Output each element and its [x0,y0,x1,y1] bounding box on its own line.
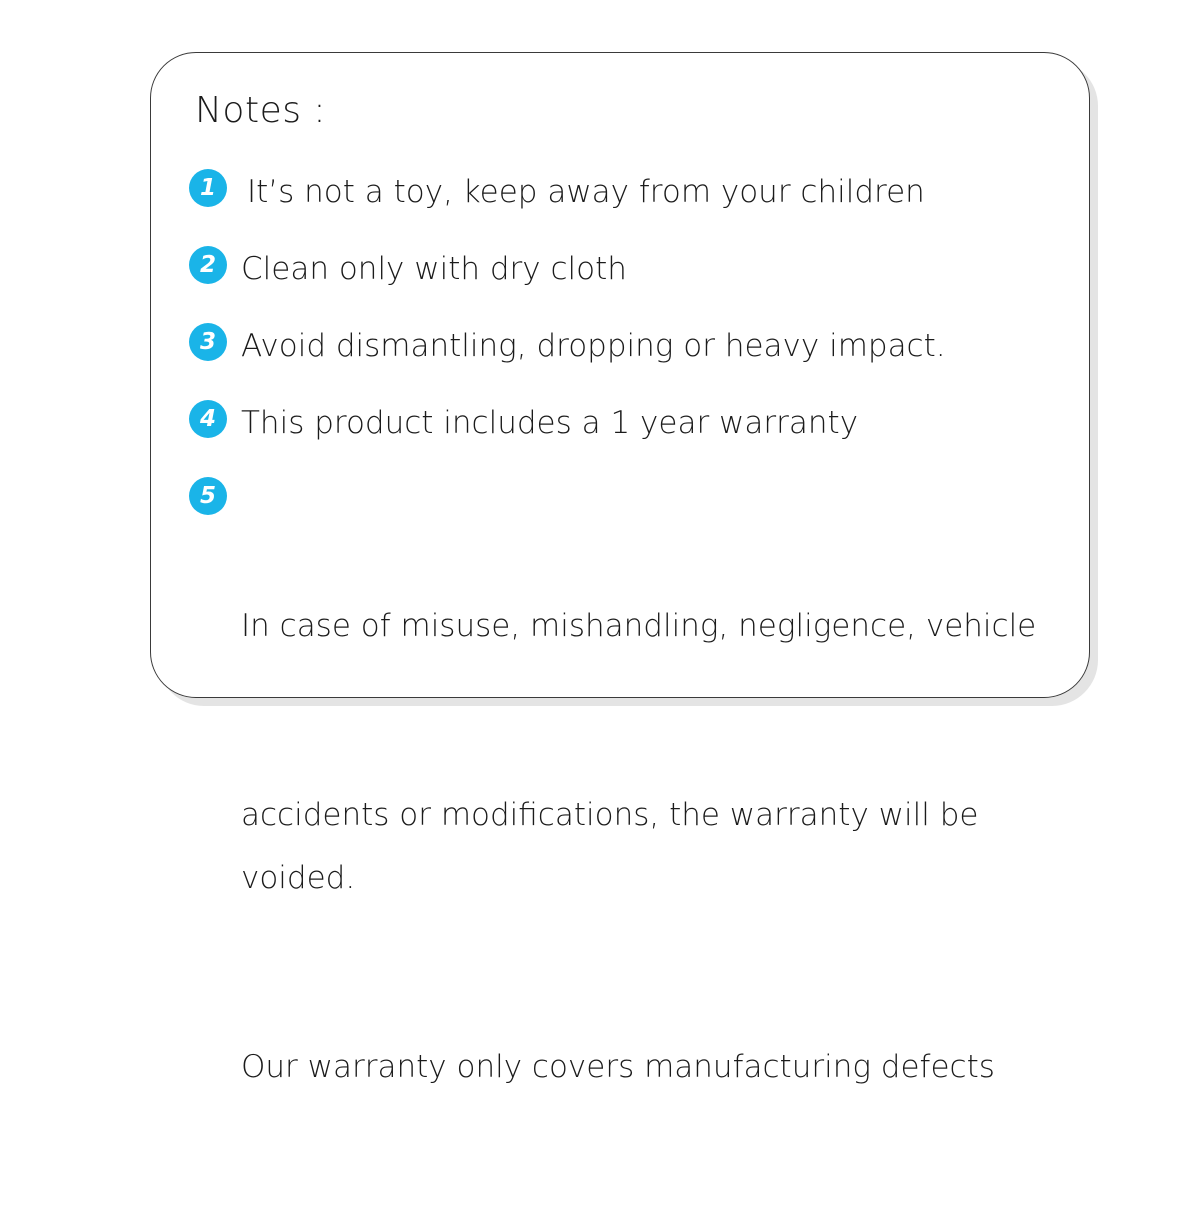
notes-card: Notes : 1 It’s not a toy, keep away from… [150,52,1090,698]
note-text-1: It’s not a toy, keep away from your chil… [247,161,1089,224]
note-text-5-line-2: accidents or modifications, the warranty… [241,784,1089,910]
note-number-badge-1: 1 [189,169,227,207]
notes-list: 1 It’s not a toy, keep away from your ch… [189,161,1089,1225]
list-item: 4 This product includes a 1 year warrant… [189,392,1089,455]
note-text-3: Avoid dismantling, dropping or heavy imp… [241,315,1089,378]
note-number-badge-2: 2 [189,246,227,284]
list-item: 5 In case of misuse, mishandling, neglig… [189,469,1089,1225]
list-item: 2 Clean only with dry cloth [189,238,1089,301]
note-number-badge-3: 3 [189,323,227,361]
note-text-5-line-3: Our warranty only covers manufacturing d… [241,1036,1089,1099]
notes-card-content: Notes : 1 It’s not a toy, keep away from… [151,53,1089,697]
note-number-badge-5: 5 [189,477,227,515]
list-item: 3 Avoid dismantling, dropping or heavy i… [189,315,1089,378]
note-text-2: Clean only with dry cloth [241,238,1089,301]
note-text-4: This product includes a 1 year warranty [241,392,1089,455]
page-title: Notes : [195,89,1089,133]
note-text-5-line-1: In case of misuse, mishandling, negligen… [241,595,1089,658]
page-root: Notes : 1 It’s not a toy, keep away from… [0,0,1200,768]
note-number-badge-4: 4 [189,400,227,438]
note-text-5: In case of misuse, mishandling, negligen… [241,469,1089,1225]
list-item: 1 It’s not a toy, keep away from your ch… [189,161,1089,224]
